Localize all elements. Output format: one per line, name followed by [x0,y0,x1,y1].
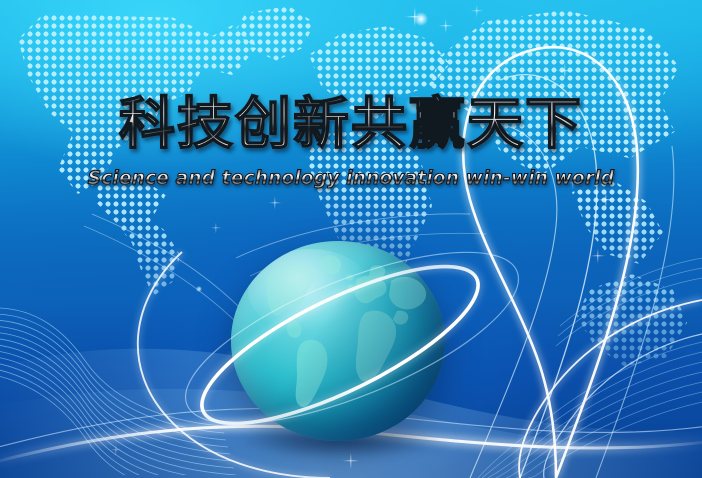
glow-dot [414,12,428,26]
headline-part-2: 共赢天下 [351,97,583,153]
light-swoosh-thin-right [470,75,674,478]
sparkle-star [344,166,356,178]
map-region-australia [572,272,692,382]
subheadline: Science and technology innovation win-wi… [0,168,702,189]
map-region-asia [430,10,680,200]
sparkle-star [470,4,484,18]
sparkle-star [596,190,616,210]
sparkle-star [210,222,222,234]
headline-part-1: 科技创新 [119,97,351,153]
light-swoosh-lower-right [519,300,702,478]
sparkle-star [590,248,606,264]
glow-dot [196,286,202,292]
headline-block: 科技创新共赢天下 [0,97,702,153]
map-region-greenland [232,6,318,76]
sparkle-star [566,176,580,190]
technology-banner-poster: 科技创新共赢天下 Science and technology innovati… [0,0,702,478]
map-region-europe [300,24,450,134]
map-region-south-america [96,176,216,296]
sparkle-star [612,290,624,302]
globe [231,241,445,441]
sparkle-star [268,196,282,210]
sparkle-star [556,62,574,80]
map-region-north-america [18,14,268,194]
sparkle-star [418,96,430,108]
globe-terminator-shading [231,241,445,441]
sparkle-star [110,444,122,456]
light-swoosh-main [463,47,638,478]
glow-dot [404,96,428,114]
sparkle-star [404,6,426,28]
map-region-southeast-asia [560,180,680,300]
light-swoosh-upper-left [84,214,248,332]
sparkle-star [438,18,454,34]
